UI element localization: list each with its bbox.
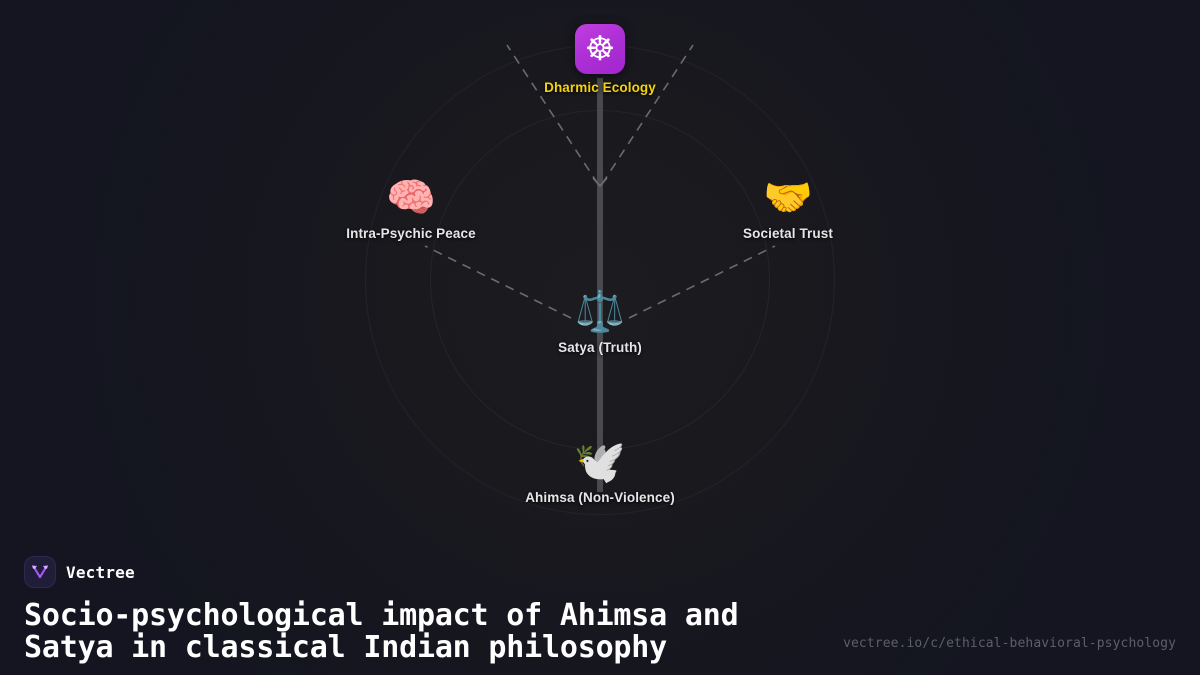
dove-of-peace-icon: 🕊️	[574, 436, 626, 488]
brain-icon: 🧠	[386, 172, 436, 224]
vectree-logo-icon	[24, 556, 56, 588]
balance-scale-icon: ⚖️	[575, 286, 625, 338]
edge-converge-chevron-icon	[593, 178, 607, 186]
node-intra-psychic-peace[interactable]: 🧠 Intra-Psychic Peace	[271, 172, 551, 241]
brand-name: Vectree	[66, 563, 135, 582]
node-label: Dharmic Ecology	[544, 80, 656, 95]
node-satya-truth[interactable]: ⚖️ Satya (Truth)	[460, 286, 740, 355]
root-node-chip: ☸	[575, 24, 625, 74]
node-dharmic-ecology[interactable]: ☸ Dharmic Ecology	[460, 24, 740, 95]
concept-map-canvas: ☸ Dharmic Ecology 🧠 Intra-Psychic Peace …	[0, 0, 1200, 675]
vectree-v-tree-icon	[30, 562, 50, 582]
handshake-icon: 🤝	[763, 172, 813, 224]
source-url: vectree.io/c/ethical-behavioral-psycholo…	[843, 636, 1176, 651]
node-societal-trust[interactable]: 🤝 Societal Trust	[648, 172, 928, 241]
page-title: Socio-psychological impact of Ahimsa and…	[24, 600, 844, 663]
orbit-ring-inner	[430, 110, 770, 450]
footer: Vectree Socio-psychological impact of Ah…	[0, 556, 1200, 675]
node-label: Ahimsa (Non-Violence)	[525, 490, 675, 505]
dharma-wheel-icon: ☸	[585, 32, 615, 66]
node-label: Satya (Truth)	[558, 340, 642, 355]
brand-lockup[interactable]: Vectree	[24, 556, 1176, 588]
node-label: Societal Trust	[743, 226, 833, 241]
node-ahimsa-non-violence[interactable]: 🕊️ Ahimsa (Non-Violence)	[460, 436, 740, 505]
node-label: Intra-Psychic Peace	[346, 226, 475, 241]
